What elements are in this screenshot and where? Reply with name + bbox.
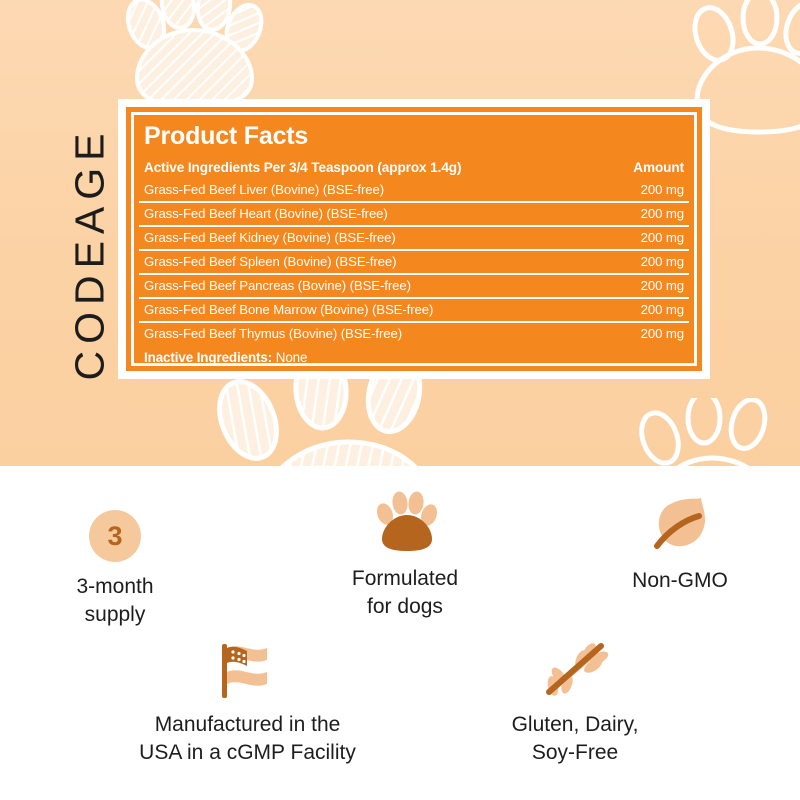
facts-table-header: Active Ingredients Per 3/4 Teaspoon (app… xyxy=(134,157,694,179)
crossed-wheat-icon xyxy=(455,634,695,700)
ingredient-amount: 200 mg xyxy=(627,230,684,245)
ingredient-name: Grass-Fed Beef Heart (Bovine) (BSE-free) xyxy=(144,206,388,221)
brand-wordmark: CODEAGE xyxy=(67,104,114,404)
ingredient-name: Grass-Fed Beef Liver (Bovine) (BSE-free) xyxy=(144,182,384,197)
ingredient-list: Grass-Fed Beef Liver (Bovine) (BSE-free)… xyxy=(134,179,694,345)
badge-label: Formulated for dogs xyxy=(310,565,500,621)
ingredient-amount: 200 mg xyxy=(627,254,684,269)
ingredient-name: Grass-Fed Beef Pancreas (Bovine) (BSE-fr… xyxy=(144,278,411,293)
badge-label: 3-month supply xyxy=(25,573,205,629)
ingredient-amount: 200 mg xyxy=(627,182,684,197)
ingredient-name: Grass-Fed Beef Bone Marrow (Bovine) (BSE… xyxy=(144,302,433,317)
ingredient-name: Grass-Fed Beef Thymus (Bovine) (BSE-free… xyxy=(144,326,402,341)
inactive-ingredients-row: Inactive Ingredients: None xyxy=(134,345,694,370)
ingredient-name: Grass-Fed Beef Spleen (Bovine) (BSE-free… xyxy=(144,254,396,269)
product-facts-card: Product Facts Active Ingredients Per 3/4… xyxy=(118,99,710,379)
badge-number: 3 xyxy=(107,523,122,550)
serving-header-label: Active Ingredients Per 3/4 Teaspoon (app… xyxy=(144,160,461,175)
inactive-ingredients-value: None xyxy=(276,350,308,365)
inactive-ingredients-label: Inactive Ingredients: xyxy=(144,350,272,365)
ingredient-amount: 200 mg xyxy=(627,278,684,293)
ingredient-row: Grass-Fed Beef Heart (Bovine) (BSE-free)… xyxy=(134,203,694,225)
badge-formulated-for-dogs: Formulated for dogs xyxy=(310,488,500,621)
badge-3-month-supply: 3 3-month supply xyxy=(25,496,205,629)
usa-flag-icon xyxy=(110,634,385,700)
badge-non-gmo: Non-GMO xyxy=(590,490,770,595)
badge-label: Non-GMO xyxy=(590,567,770,595)
feature-badges-section: 3 3-month supply Formulated for dogs xyxy=(0,466,800,800)
product-facts-border: Product Facts Active Ingredients Per 3/4… xyxy=(126,107,702,371)
amount-header-label: Amount xyxy=(619,160,684,175)
product-facts-body: Product Facts Active Ingredients Per 3/4… xyxy=(134,115,694,363)
product-facts-title: Product Facts xyxy=(134,115,694,157)
ingredient-row: Grass-Fed Beef Bone Marrow (Bovine) (BSE… xyxy=(134,299,694,321)
ingredient-amount: 200 mg xyxy=(627,326,684,341)
paw-print-icon xyxy=(310,488,500,554)
paw-watermark-bottom-right xyxy=(630,398,800,466)
ingredient-row: Grass-Fed Beef Thymus (Bovine) (BSE-free… xyxy=(134,323,694,345)
ingredient-row: Grass-Fed Beef Kidney (Bovine) (BSE-free… xyxy=(134,227,694,249)
ingredient-amount: 200 mg xyxy=(627,206,684,221)
badge-label: Gluten, Dairy, Soy-Free xyxy=(455,711,695,767)
ingredient-row: Grass-Fed Beef Liver (Bovine) (BSE-free)… xyxy=(134,179,694,201)
ingredient-row: Grass-Fed Beef Spleen (Bovine) (BSE-free… xyxy=(134,251,694,273)
ingredient-name: Grass-Fed Beef Kidney (Bovine) (BSE-free… xyxy=(144,230,396,245)
ingredient-amount: 200 mg xyxy=(627,302,684,317)
badge-gluten-dairy-soy-free: Gluten, Dairy, Soy-Free xyxy=(455,634,695,767)
leaf-icon xyxy=(590,490,770,556)
paw-watermark-bottom-center xyxy=(196,372,426,466)
badge-manufactured-usa: Manufactured in the USA in a cGMP Facili… xyxy=(110,634,385,767)
number-3-circle-icon: 3 xyxy=(25,496,205,562)
product-facts-panel: CODEAGE Product Facts Active Ingredients… xyxy=(0,0,800,466)
badge-label: Manufactured in the USA in a cGMP Facili… xyxy=(110,711,385,767)
ingredient-row: Grass-Fed Beef Pancreas (Bovine) (BSE-fr… xyxy=(134,275,694,297)
